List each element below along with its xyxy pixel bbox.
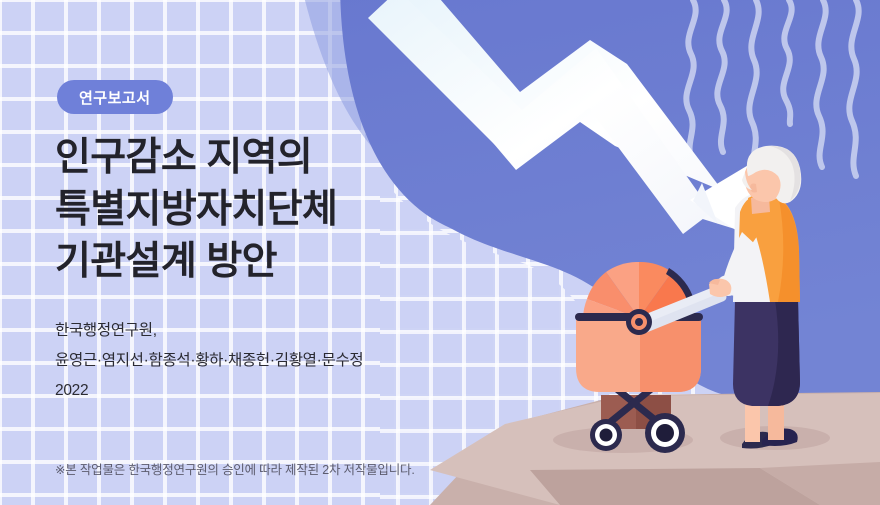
report-cover: 연구보고서 인구감소 지역의 특별지방자치단체 기관설계 방안 한국행정연구원,… xyxy=(0,0,880,505)
cover-illustration xyxy=(0,0,880,505)
report-type-badge[interactable]: 연구보고서 xyxy=(57,80,173,114)
